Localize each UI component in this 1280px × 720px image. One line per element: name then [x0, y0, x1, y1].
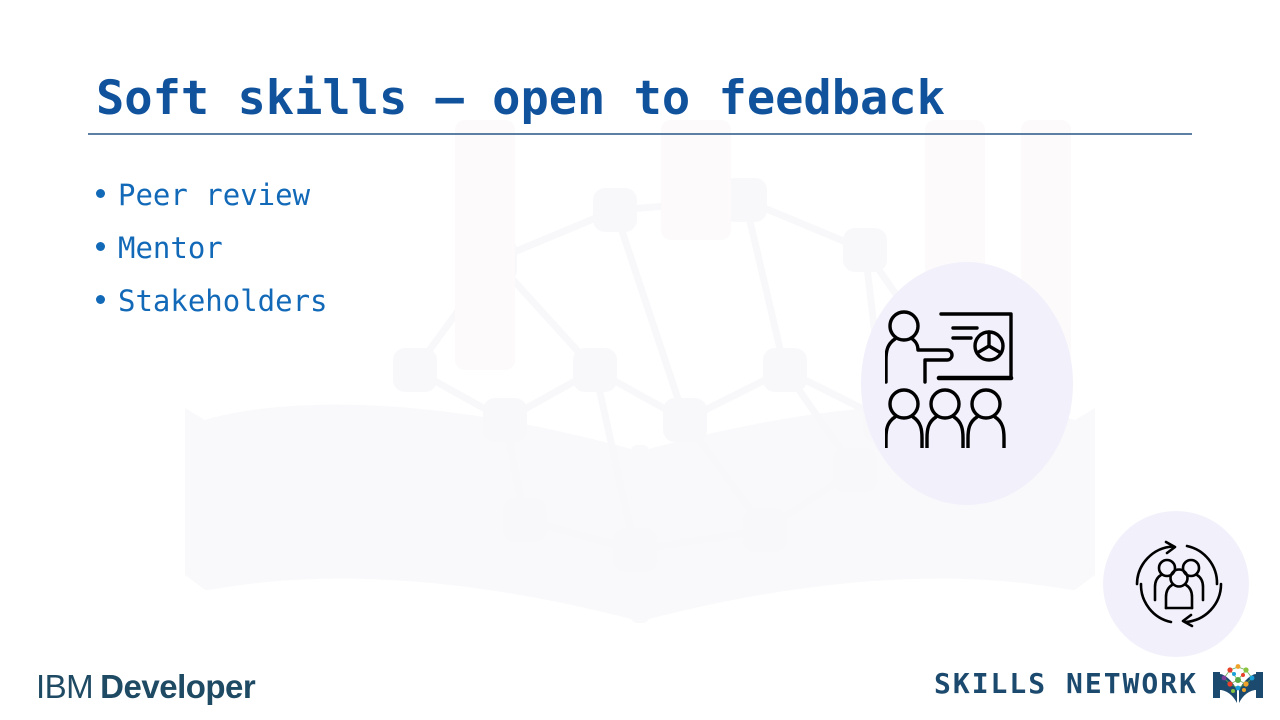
list-item-label: Mentor	[118, 231, 223, 265]
bullet-list: Peer review Mentor Stakeholders	[96, 178, 328, 337]
list-item: Stakeholders	[96, 284, 328, 337]
presentation-training-icon	[885, 308, 1019, 448]
list-item: Peer review	[96, 178, 328, 231]
collaboration-cycle-icon	[1133, 538, 1225, 630]
ibm-wordmark: IBM	[36, 668, 93, 705]
skills-network-wordmark: SKILLS NETWORK	[934, 667, 1198, 700]
list-item: Mentor	[96, 231, 328, 284]
developer-wordmark: Developer	[100, 668, 255, 705]
ibm-developer-logo: IBMDeveloper	[36, 668, 255, 706]
title-underline-rule	[88, 133, 1192, 135]
page-title: Soft skills – open to feedback	[88, 72, 1192, 126]
skills-network-book-icon	[1210, 660, 1266, 706]
bullet-dot-icon	[96, 242, 105, 251]
skills-network-logo: SKILLS NETWORK	[934, 660, 1266, 706]
slide-canvas: Soft skills – open to feedback Peer revi…	[0, 0, 1280, 720]
bullet-dot-icon	[96, 295, 105, 304]
title-block: Soft skills – open to feedback	[88, 72, 1192, 135]
list-item-label: Stakeholders	[118, 284, 328, 318]
bullet-dot-icon	[96, 189, 105, 198]
list-item-label: Peer review	[118, 178, 310, 212]
